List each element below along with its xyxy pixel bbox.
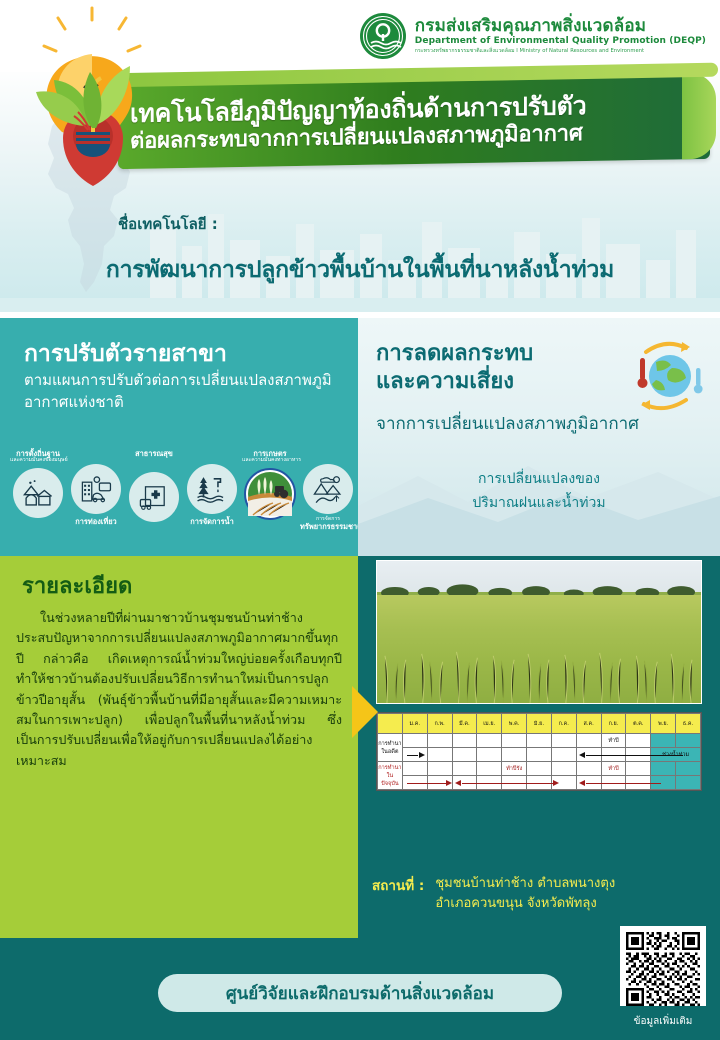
right-lower-panel: ม.ค. ก.พ. มี.ค. เม.ย. พ.ค. มิ.ย. ก.ค. ส.… [358, 556, 720, 938]
mitigation-heading: การลดผลกระทบ และความเสี่ยง [376, 340, 533, 395]
details-pointer-arrow-icon [352, 686, 378, 738]
sector-label-natural-resources: ทรัพยากรธรรมชาติ [300, 523, 356, 531]
sector-label-public-health: สาธารณสุข [126, 450, 182, 458]
calendar-corner-cell [378, 714, 403, 734]
place-line-2: อำเภอควนขนุน จังหวัดพัทลุง [435, 896, 596, 911]
calendar-month-4: เม.ย. [477, 714, 502, 734]
mitigation-panel: การลดผลกระทบ และความเสี่ยง จากการเปลี่ยน… [358, 318, 720, 556]
calendar-annotation-now-1: ทำปีรัง [502, 762, 527, 776]
calendar-arrow-now-1 [402, 776, 427, 790]
sector-item-tourism[interactable]: การท่องเที่ยว [68, 464, 124, 526]
calendar-arrow-now-3 [527, 776, 552, 790]
calendar-month-10: ต.ค. [626, 714, 651, 734]
photo-rice-field [377, 595, 701, 703]
calendar-row-now-arrows [378, 776, 701, 790]
title-text-block: เทคโนโลยีภูมิปัญญาท้องถิ่นด้านการปรับตัว… [130, 77, 710, 167]
sector-item-water-management[interactable]: การจัดการน้ำ [184, 464, 240, 526]
center-name-pill[interactable]: ศูนย์วิจัยและฝึกอบรมด้านสิ่งแวดล้อม [158, 974, 562, 1012]
water-management-icon [187, 464, 237, 514]
calendar-arrow-now-2 [452, 776, 477, 790]
place-label: สถานที่ : [372, 874, 424, 896]
cold-thermometer [694, 368, 703, 393]
calendar-arrow-now-4 [576, 776, 601, 790]
adaptation-panel: การปรับตัวรายสาขา ตามแผนการปรับตัวต่อการ… [0, 318, 358, 556]
rice-field-photo [376, 560, 702, 704]
calendar-month-8: ส.ค. [576, 714, 601, 734]
calendar-month-5: พ.ค. [502, 714, 527, 734]
calendar-arrow-past-end [576, 748, 601, 762]
mitigation-subheading: จากการเปลี่ยนแปลงสภาพภูมิอากาศ [376, 410, 639, 437]
calendar-month-12: ธ.ค. [676, 714, 701, 734]
lightbulb-leaf-pin-icon [18, 6, 168, 186]
sector-item-public-health[interactable]: สาธารณสุข [126, 450, 182, 522]
mitigation-heading-line-2: และความเสี่ยง [376, 368, 533, 396]
place-block: สถานที่ : ชุมชนบ้านท่าช้าง ตำบลพนางตุง อ… [372, 874, 706, 914]
calendar-row-past-annotation: การทำนาในอดีต ทำปี [378, 734, 701, 748]
mitigation-heading-line-1: การลดผลกระทบ [376, 340, 533, 368]
tech-label: ชื่อเทคโนโลยี : [118, 212, 218, 236]
page-footer: ศูนย์วิจัยและฝึกอบรมด้านสิ่งแวดล้อม [0, 938, 720, 1040]
mitigation-point-2: ปริมาณฝนและน้ำท่วม [358, 492, 720, 516]
org-name-th: กรมส่งเสริมคุณภาพสิ่งแวดล้อม [415, 18, 706, 36]
deqp-seal-icon [359, 12, 407, 60]
qr-caption: ข้อมูลเพิ่มเติม [620, 1010, 706, 1029]
natural-resources-icon [303, 464, 353, 514]
sector-sublabel-settlement: และความมั่นคงของมนุษย์ [10, 458, 66, 464]
farming-calendar-table: ม.ค. ก.พ. มี.ค. เม.ย. พ.ค. มิ.ย. ก.ค. ส.… [376, 712, 702, 791]
sector-item-natural-resources[interactable]: การจัดการ ทรัพยากรธรรมชาติ [300, 464, 356, 531]
agriculture-icon [244, 468, 296, 520]
mitigation-points: การเปลี่ยนแปลงของ ปริมาณฝนและน้ำท่วม [358, 468, 720, 516]
deqp-logo: กรมส่งเสริมคุณภาพสิ่งแวดล้อม Department … [359, 12, 706, 60]
sector-label-water-management: การจัดการน้ำ [184, 518, 240, 526]
calendar-row-past-arrows: ช่วงน้ำท่วม [378, 748, 701, 762]
sector-icon-row: การตั้งถิ่นฐาน และความมั่นคงของมนุษย์ [6, 450, 354, 550]
calendar-rowlabel-now: การทำนาในปัจจุบัน [378, 762, 403, 790]
poster-root: กรมส่งเสริมคุณภาพสิ่งแวดล้อม Department … [0, 0, 720, 1040]
sector-item-settlement[interactable]: การตั้งถิ่นฐาน และความมั่นคงของมนุษย์ [10, 450, 66, 518]
org-name-en: Department of Environmental Quality Prom… [415, 37, 706, 46]
details-heading: รายละเอียด [22, 568, 132, 603]
adaptation-heading: การปรับตัวรายสาขา [24, 336, 227, 372]
calendar-rowlabel-past: การทำนาในอดีต [378, 734, 403, 762]
sector-item-agriculture[interactable]: การเกษตร และความมั่นคงทางอาหาร [242, 450, 298, 520]
calendar-month-2: ก.พ. [427, 714, 452, 734]
calendar-annotation-now-2: ทำปี [601, 762, 626, 776]
deqp-text-block: กรมส่งเสริมคุณภาพสิ่งแวดล้อม Department … [415, 18, 706, 55]
calendar-arrow-past-start [402, 748, 427, 762]
tourism-icon [71, 464, 121, 514]
hot-thermometer [638, 358, 648, 388]
qr-code-box[interactable] [620, 926, 706, 1006]
place-line-1: ชุมชนบ้านท่าช้าง ตำบลพนางตุง [435, 876, 615, 891]
calendar-row-now-annotation: การทำนาในปัจจุบัน ทำปีรัง ทำปี [378, 762, 701, 776]
ministry-name: กระทรวงทรัพยากรธรรมชาติและสิ่งแวดล้อม I … [415, 49, 706, 54]
calendar-header-row: ม.ค. ก.พ. มี.ค. เม.ย. พ.ค. มิ.ย. ก.ค. ส.… [378, 714, 701, 734]
calendar-month-3: มี.ค. [452, 714, 477, 734]
calendar-month-6: มิ.ย. [527, 714, 552, 734]
sector-sublabel-agriculture: และความมั่นคงทางอาหาร [242, 458, 298, 464]
sector-label-tourism: การท่องเที่ยว [68, 518, 124, 526]
public-health-icon [129, 472, 179, 522]
calendar-month-1: ม.ค. [402, 714, 427, 734]
tech-name: การพัฒนาการปลูกข้าวพื้นบ้านในพื้นที่นาหล… [0, 252, 720, 288]
calendar-annotation-past-1: ทำปี [601, 734, 626, 748]
details-panel: รายละเอียด ในช่วงหลายปีที่ผ่านมาชาวบ้านช… [0, 556, 358, 938]
globe-thermometer-icon [620, 336, 706, 416]
place-value: ชุมชนบ้านท่าช้าง ตำบลพนางตุง อำเภอควนขนุ… [435, 874, 615, 914]
qr-code-icon[interactable] [626, 932, 700, 1006]
calendar-month-11: พ.ย. [651, 714, 676, 734]
calendar-month-9: ก.ย. [601, 714, 626, 734]
details-body: ในช่วงหลายปีที่ผ่านมาชาวบ้านชุมชนบ้านท่า… [16, 608, 342, 771]
adaptation-subheading: ตามแผนการปรับตัวต่อการเปลี่ยนแปลงสภาพภูม… [24, 370, 340, 414]
calendar-month-7: ก.ค. [551, 714, 576, 734]
mitigation-point-1: การเปลี่ยนแปลงของ [358, 468, 720, 492]
settlement-icon [13, 468, 63, 518]
